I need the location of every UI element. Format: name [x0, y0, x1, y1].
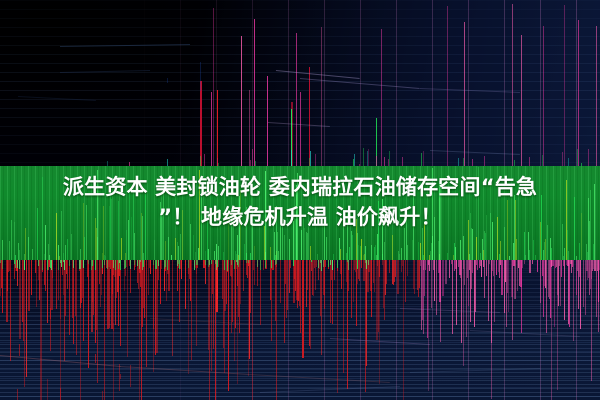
news-banner: 派生资本 美封锁油轮 委内瑞拉石油储存空间“告急 ”！ 地缘危机升温 油价飙升！	[0, 0, 600, 400]
green-headline-band	[0, 166, 600, 260]
green-volume-spikes	[0, 166, 600, 260]
